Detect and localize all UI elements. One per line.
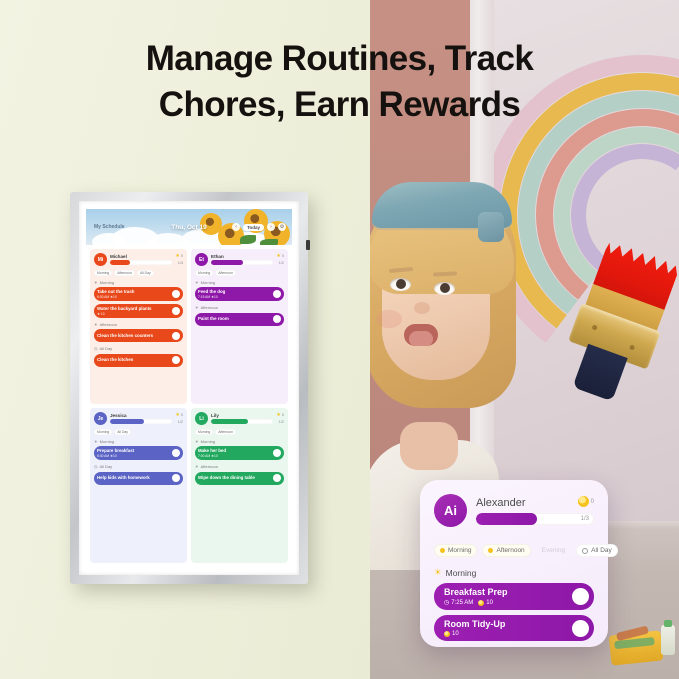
task-points: 10 [113, 454, 117, 458]
section-all-day: ◷All Day [94, 346, 183, 351]
section-afternoon: ☀Afternoon [195, 305, 284, 310]
banner-controls: ‹ Today › ⚙ [232, 223, 286, 231]
task-row-breakfast-prep[interactable]: Breakfast Prep ◷ 7:25 AM 10 [434, 583, 594, 610]
progress-label: 1/2 [276, 420, 284, 426]
denim-headband [372, 182, 512, 230]
picture-frame: My Schedule Thu, Oct 19 ‹ Today › ⚙ Mi [70, 192, 308, 584]
sunrise-icon: ☀ [195, 439, 199, 444]
chip-morning[interactable]: Morning [94, 270, 112, 276]
star-icon: ★ [175, 412, 179, 418]
task-title: Make her bed [198, 448, 226, 454]
app-banner: My Schedule Thu, Oct 19 ‹ Today › ⚙ [86, 209, 292, 245]
person-card-ethan[interactable]: Et Ethan ★ 0 1/2 Morning [191, 249, 288, 404]
task-toggle[interactable] [572, 588, 589, 605]
filter-chips: Morning Afternoon [195, 429, 284, 435]
progress-bar: 1/3 [476, 513, 594, 525]
filter-chips: Morning Afternoon [195, 270, 284, 276]
banner-date: Thu, Oct 19 [171, 224, 206, 231]
task-row[interactable]: Clean the kitchen [94, 354, 183, 367]
task-title: Paint the room [198, 316, 229, 322]
pupil-right [440, 283, 450, 293]
avatar: Et [195, 253, 208, 266]
gear-icon[interactable]: ⚙ [278, 223, 286, 231]
chip-morning[interactable]: Morning [94, 429, 112, 435]
task-row[interactable]: Wipe down the dining table [195, 472, 284, 485]
chip-all-day[interactable]: All Day [137, 270, 154, 276]
person-name: Alexander [476, 497, 594, 509]
power-button[interactable] [306, 240, 310, 250]
sun-icon: ☀ [94, 322, 98, 327]
avatar: Mi [94, 253, 107, 266]
person-header: Je Jessica ★ 0 1/2 [94, 412, 183, 425]
sunrise-icon: ☀ [94, 280, 98, 285]
task-row[interactable]: Feed the dog7:15 AM ★10 [195, 287, 284, 301]
task-toggle[interactable] [172, 474, 180, 482]
task-row[interactable]: Water the backyard plants★ 10 [94, 304, 183, 318]
avatar: Je [94, 412, 107, 425]
progress-label: 1/3 [581, 516, 589, 522]
tablet-screen: My Schedule Thu, Oct 19 ‹ Today › ⚙ Mi [86, 209, 292, 567]
task-toggle[interactable] [172, 449, 180, 457]
clock-icon: ◷ [94, 464, 98, 469]
chip-afternoon[interactable]: Afternoon [482, 544, 530, 557]
card-header: Ai Alexander 1/3 [434, 494, 594, 527]
promo-image: Manage Routines, Track Chores, Earn Rewa… [0, 0, 679, 679]
task-toggle[interactable] [172, 332, 180, 340]
task-row[interactable]: Clean the kitchen counters [94, 329, 183, 342]
task-time: 7:00 AM [198, 454, 210, 458]
person-name: Ethan [211, 254, 273, 259]
neck [400, 422, 458, 470]
points-value: 0 [282, 254, 284, 258]
task-points: 10 [113, 295, 117, 299]
task-toggle[interactable] [172, 356, 180, 364]
person-name: Michael [110, 254, 172, 259]
avatar: Li [195, 412, 208, 425]
today-button[interactable]: Today [243, 224, 264, 231]
progress-bar [211, 260, 273, 265]
chip-evening[interactable]: Evening [536, 544, 572, 557]
section-afternoon: ☀Afternoon [195, 464, 284, 469]
task-time: 7:15 AM [198, 295, 210, 299]
section-afternoon: ☀Afternoon [94, 322, 183, 327]
person-header: Et Ethan ★ 0 1/2 [195, 253, 284, 266]
task-points: 10 [214, 295, 218, 299]
chip-afternoon[interactable]: Afternoon [215, 429, 236, 435]
section-morning: ☀Morning [94, 280, 183, 285]
chip-morning[interactable]: Morning [195, 429, 213, 435]
sun-icon: ☀ [195, 305, 199, 310]
pupil-left [396, 279, 406, 289]
task-toggle[interactable] [273, 474, 281, 482]
progress-label: 1/2 [175, 420, 183, 426]
sunrise-icon: ☀ [94, 439, 98, 444]
task-title: Prepare breakfast [97, 448, 134, 454]
person-card-jessica[interactable]: Je Jessica ★ 0 1/2 Morning [90, 408, 187, 563]
sunrise-icon: ☀ [195, 280, 199, 285]
task-title: Take out the trash [97, 289, 135, 295]
task-toggle[interactable] [572, 620, 589, 637]
clock-icon: ◷ [94, 346, 98, 351]
task-title: Breakfast Prep [444, 587, 508, 597]
chip-afternoon[interactable]: Afternoon [114, 270, 135, 276]
chip-afternoon[interactable]: Afternoon [215, 270, 236, 276]
headline-line-2: Chores, Earn Rewards [0, 82, 679, 128]
task-row[interactable]: Help kids with homework [94, 472, 183, 485]
score-block: ★ 0 1/2 [276, 412, 284, 425]
score-block: ★ 0 1/2 [276, 253, 284, 266]
person-card-michael[interactable]: Mi Michael ★ 0 1/4 Morning [90, 249, 187, 404]
task-title: Clean the kitchen [97, 357, 133, 363]
task-toggle[interactable] [273, 290, 281, 298]
mouth [404, 324, 438, 346]
points-block: 0 [578, 496, 594, 507]
time-filter-chips: Morning Afternoon Evening All Day [434, 544, 594, 557]
progress-bar [211, 419, 273, 424]
task-row[interactable]: Prepare breakfast6:30 AM ★10 [94, 446, 183, 460]
points-value: 0 [181, 254, 183, 258]
section-header-morning: ☀ Morning [434, 567, 594, 578]
section-morning: ☀Morning [195, 439, 284, 444]
task-time: ◷ 7:25 AM [444, 599, 473, 606]
section-morning: ☀Morning [195, 280, 284, 285]
people-grid: Mi Michael ★ 0 1/4 Morning [86, 245, 292, 567]
task-toggle[interactable] [273, 449, 281, 457]
cheek [376, 310, 402, 328]
chevron-left-icon[interactable]: ‹ [232, 223, 240, 231]
avatar: Ai [434, 494, 467, 527]
task-points: 10 [214, 454, 218, 458]
filter-chips: Morning Afternoon All Day [94, 270, 183, 276]
star-icon: ★ [175, 253, 179, 259]
task-toggle[interactable] [172, 307, 180, 315]
chevron-right-icon[interactable]: › [267, 223, 275, 231]
paint-tube [661, 625, 675, 655]
points-value: 0 [282, 413, 284, 417]
nose [414, 302, 430, 314]
star-icon [578, 496, 589, 507]
progress-label: 1/2 [276, 261, 284, 267]
points-value: 0 [591, 499, 594, 505]
task-title: Clean the kitchen counters [97, 333, 153, 339]
chip-all-day[interactable]: All Day [576, 544, 618, 557]
task-toggle[interactable] [273, 315, 281, 323]
task-points: 10 [478, 600, 493, 606]
sun-icon: ☀ [195, 464, 199, 469]
task-title: Help kids with homework [97, 475, 150, 481]
task-title: Feed the dog [198, 289, 225, 295]
progress-bar [110, 260, 172, 265]
person-header: Li Lily ★ 0 1/2 [195, 412, 284, 425]
sunrise-icon: ☀ [434, 567, 442, 578]
task-row-room-tidy-up[interactable]: Room Tidy-Up 10 [434, 615, 594, 641]
person-header: Mi Michael ★ 0 1/4 [94, 253, 183, 266]
chip-morning[interactable]: Morning [434, 544, 477, 557]
floating-task-card: Ai Alexander 1/3 0 Morning Afternoon [420, 480, 608, 647]
paint-tray [609, 630, 664, 665]
task-row[interactable]: Make her bed7:00 AM ★10 [195, 446, 284, 460]
task-row[interactable]: Take out the trash6:30 AM ★10 [94, 287, 183, 301]
star-icon: ★ [276, 253, 280, 259]
task-time: 6:30 AM [97, 454, 109, 458]
filter-chips: Morning All Day [94, 429, 183, 435]
section-all-day: ◷All Day [94, 464, 183, 469]
chip-morning[interactable]: Morning [195, 270, 213, 276]
task-time: 6:30 AM [97, 295, 109, 299]
task-row[interactable]: Paint the room [195, 313, 284, 326]
section-morning: ☀Morning [94, 439, 183, 444]
sun-dot-icon [488, 548, 493, 553]
score-block: ★ 0 1/2 [175, 412, 183, 425]
person-card-lily[interactable]: Li Lily ★ 0 1/2 Morning [191, 408, 288, 563]
star-icon: ★ [276, 412, 280, 418]
page-title: Manage Routines, Track Chores, Earn Rewa… [0, 36, 679, 127]
task-title: Room Tidy-Up [444, 619, 505, 629]
score-block: ★ 0 1/4 [175, 253, 183, 266]
headline-line-1: Manage Routines, Track [0, 36, 679, 82]
person-name: Jessica [110, 413, 172, 418]
progress-bar [110, 419, 172, 424]
clock-icon [582, 548, 588, 554]
task-title: Wipe down the dining table [198, 475, 255, 481]
sun-dot-icon [440, 548, 445, 553]
task-toggle[interactable] [172, 290, 180, 298]
progress-label: 1/4 [175, 261, 183, 267]
task-title: Water the backyard plants [97, 306, 152, 312]
chip-all-day[interactable]: All Day [114, 429, 131, 435]
person-name: Lily [211, 413, 273, 418]
frame-matte: My Schedule Thu, Oct 19 ‹ Today › ⚙ Mi [79, 201, 299, 575]
points-value: 0 [181, 413, 183, 417]
task-points: 10 [444, 631, 459, 637]
banner-left-label: My Schedule [94, 224, 125, 230]
